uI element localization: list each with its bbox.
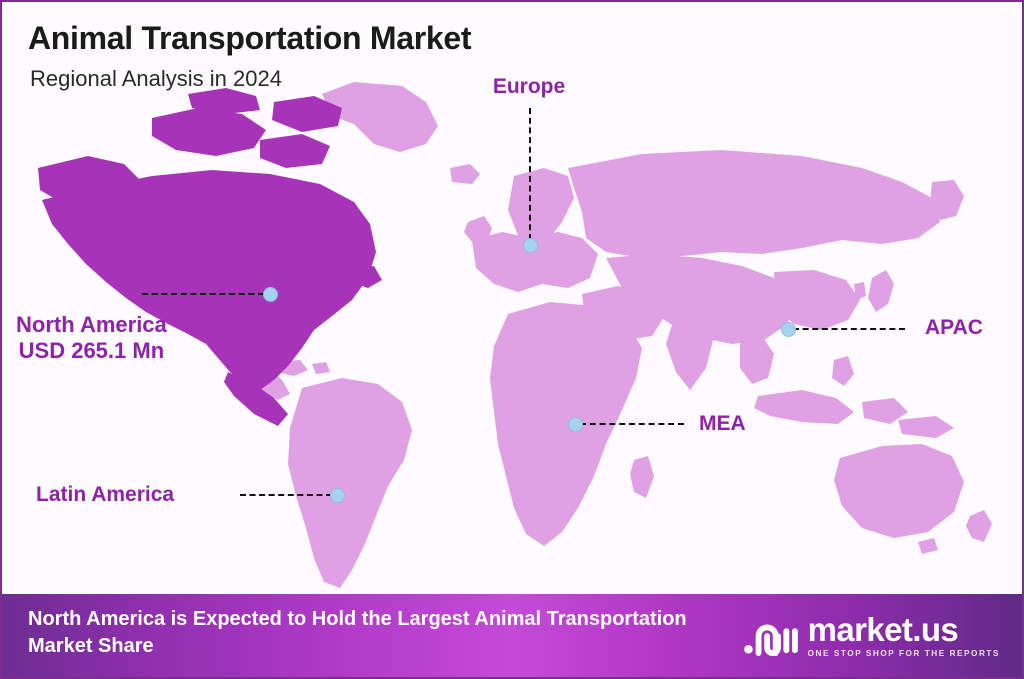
logo-name: market.us <box>808 614 1000 646</box>
banner-headline: North America is Expected to Hold the La… <box>28 606 728 659</box>
region-name-europe: Europe <box>493 75 565 98</box>
logo-text-block: market.us ONE STOP SHOP FOR THE REPORTS <box>808 614 1000 658</box>
region-label-latin-america: Latin America <box>36 483 174 507</box>
market-us-logo-icon <box>743 615 799 657</box>
infographic-canvas: Animal Transportation Market Regional An… <box>0 0 1024 679</box>
region-name-latin-america: Latin America <box>36 483 174 506</box>
footer-banner: North America is Expected to Hold the La… <box>2 594 1022 677</box>
page-title: Animal Transportation Market <box>28 20 471 57</box>
map-highlight-north-america <box>38 88 382 426</box>
logo-tagline: ONE STOP SHOP FOR THE REPORTS <box>808 649 1000 658</box>
map-base-regions <box>238 82 992 588</box>
marker-europe[interactable] <box>523 238 538 253</box>
leader-europe <box>529 108 531 240</box>
marker-north-america[interactable] <box>263 287 278 302</box>
leader-mea <box>580 423 684 425</box>
region-name-mea: MEA <box>699 412 746 435</box>
leader-apac <box>793 328 905 330</box>
region-label-north-america: North America USD 265.1 Mn <box>16 312 167 363</box>
region-label-europe: Europe <box>493 75 565 99</box>
region-name-north-america: North America <box>16 312 167 338</box>
marker-latin-america[interactable] <box>330 488 345 503</box>
region-label-mea: MEA <box>699 412 746 436</box>
marker-mea[interactable] <box>568 417 583 432</box>
leader-north-america <box>142 293 264 295</box>
marker-apac[interactable] <box>781 322 796 337</box>
leader-latin-america <box>240 494 332 496</box>
region-value-north-america: USD 265.1 Mn <box>16 338 167 364</box>
region-label-apac: APAC <box>925 316 983 340</box>
region-name-apac: APAC <box>925 316 983 339</box>
market-us-logo[interactable]: market.us ONE STOP SHOP FOR THE REPORTS <box>743 610 1000 662</box>
